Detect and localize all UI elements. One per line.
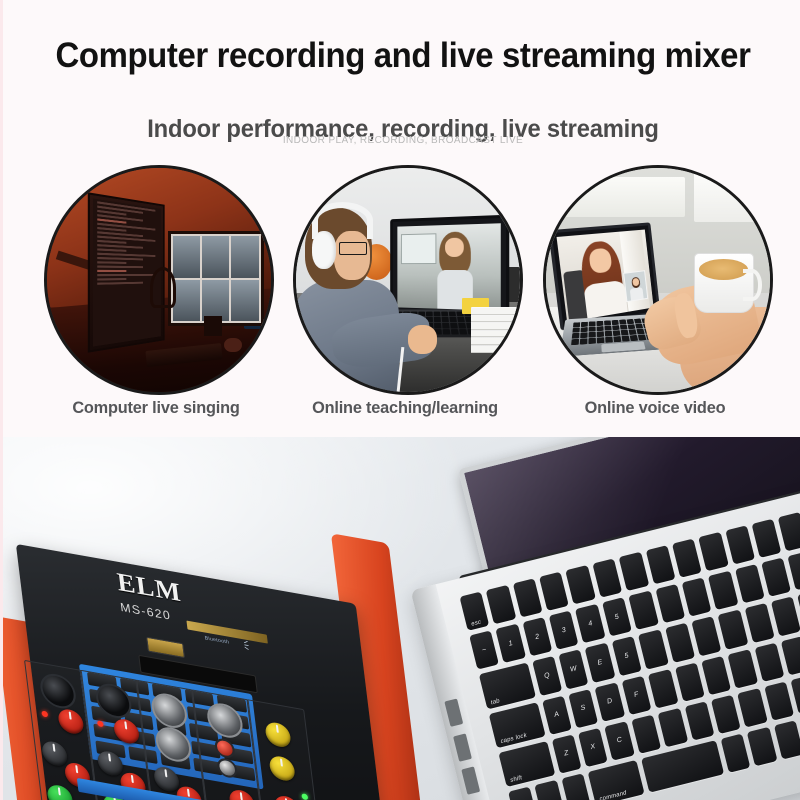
key-p xyxy=(771,597,800,637)
key-caps-lock: caps lock xyxy=(489,702,546,748)
rca-input-right[interactable] xyxy=(214,737,236,759)
promo-microcopy: INDOOR PLAY, RECORDING, BROADCAST LIVE xyxy=(3,135,800,146)
master-section xyxy=(246,699,328,800)
key-f3 xyxy=(539,572,569,612)
bluetooth-icon: 🗧 xyxy=(243,638,255,657)
key-l xyxy=(754,642,784,682)
gain-knob[interactable] xyxy=(113,717,141,745)
key-shift: shift xyxy=(498,741,555,787)
key-f5 xyxy=(592,558,622,598)
page-title: Computer recording and live streaming mi… xyxy=(27,37,779,75)
key-s: S xyxy=(568,689,598,729)
key-f1 xyxy=(486,585,516,625)
key-tilde: ~ xyxy=(469,630,499,670)
key-period xyxy=(764,681,794,721)
product-marketing-image: Computer recording and live streaming mi… xyxy=(0,0,800,800)
key-5: 5 xyxy=(602,597,632,637)
channel-led xyxy=(41,710,48,717)
key-7 xyxy=(655,584,685,624)
key-q: Q xyxy=(532,656,562,696)
key-g xyxy=(648,669,678,709)
use-case-item: Computer live singing xyxy=(31,165,281,435)
reverb-knob[interactable] xyxy=(268,754,296,782)
trs-jack[interactable] xyxy=(205,701,244,741)
eq-mid-knob[interactable] xyxy=(228,788,256,800)
use-case-photo-online-voice-video xyxy=(543,165,773,395)
eq-low-knob[interactable] xyxy=(46,783,74,800)
key-v xyxy=(631,714,661,754)
key-j xyxy=(701,655,731,695)
product-photo-section: esc ~ 1 2 3 4 5 tab Q W xyxy=(0,437,800,800)
key-minus xyxy=(761,558,791,598)
key-8 xyxy=(682,577,712,617)
key-option: option xyxy=(561,773,591,800)
key-w: W xyxy=(559,650,589,690)
key-9 xyxy=(708,571,738,611)
trs-jack[interactable] xyxy=(154,725,193,765)
key-f10 xyxy=(725,525,755,565)
key-command: command xyxy=(588,760,645,800)
xlr-combo-jack[interactable] xyxy=(94,681,133,721)
laptop-usb-port xyxy=(444,698,463,726)
key-f2 xyxy=(513,578,543,618)
key-u xyxy=(691,616,721,656)
key-fn: fn xyxy=(508,786,538,800)
key-o xyxy=(744,603,774,643)
key-comma xyxy=(737,688,767,728)
use-case-photo-online-teaching xyxy=(293,165,523,395)
promo-section: Computer recording and live streaming mi… xyxy=(0,0,800,437)
eq-high-knob[interactable] xyxy=(153,765,181,793)
use-case-caption: Online voice video xyxy=(535,398,775,418)
key-f7 xyxy=(645,545,675,585)
key-f12 xyxy=(778,512,800,552)
channel-led xyxy=(97,720,104,727)
eq-high-knob[interactable] xyxy=(41,740,69,768)
key-c: C xyxy=(604,721,634,761)
gain-knob[interactable] xyxy=(57,707,85,735)
trs-jack[interactable] xyxy=(150,691,189,731)
key-tab: tab xyxy=(479,663,536,709)
key-0 xyxy=(735,564,765,604)
key-f4 xyxy=(566,565,596,605)
key-f6 xyxy=(619,552,649,592)
key-f11 xyxy=(751,519,781,559)
key-6 xyxy=(628,591,658,631)
key-f8 xyxy=(672,539,702,579)
key-f9 xyxy=(698,532,728,572)
key-z: Z xyxy=(551,734,581,774)
key-a: A xyxy=(542,695,572,735)
audio-mixer: ELM MS-620 Bluetooth 🗧 xyxy=(8,563,461,800)
eq-high-knob[interactable] xyxy=(96,749,124,777)
power-led xyxy=(301,793,308,800)
key-2: 2 xyxy=(522,617,552,657)
key-semicolon xyxy=(781,636,800,676)
key-1: 1 xyxy=(496,624,526,664)
key-y xyxy=(665,623,695,663)
use-case-item: Online teaching/learning xyxy=(280,165,530,435)
key-t xyxy=(638,630,668,670)
key-control: control xyxy=(535,780,565,800)
key-3: 3 xyxy=(549,611,579,651)
key-4: 4 xyxy=(575,604,605,644)
key-d: D xyxy=(595,682,625,722)
use-case-photo-computer-live-singing xyxy=(44,165,274,395)
echo-knob[interactable] xyxy=(264,721,292,749)
xlr-combo-jack[interactable] xyxy=(39,671,78,711)
key-k xyxy=(727,649,757,689)
key-i xyxy=(718,610,748,650)
use-case-caption: Computer live singing xyxy=(36,398,276,418)
key-x: X xyxy=(578,727,608,767)
key-b xyxy=(658,708,688,748)
key-option-right xyxy=(747,727,777,767)
use-case-item: Online voice video xyxy=(530,165,780,435)
use-case-caption: Online teaching/learning xyxy=(285,398,525,418)
key-n xyxy=(684,701,714,741)
key-h xyxy=(674,662,704,702)
key-arrow-left xyxy=(773,720,800,760)
rca-input-left[interactable] xyxy=(216,757,238,779)
key-command-right xyxy=(720,733,750,773)
use-case-gallery: Computer live singing xyxy=(3,165,800,435)
key-r: 5 xyxy=(612,636,642,676)
key-esc: esc xyxy=(459,591,489,631)
key-e: E xyxy=(585,643,615,683)
key-m xyxy=(711,694,741,734)
key-f: F xyxy=(621,675,651,715)
